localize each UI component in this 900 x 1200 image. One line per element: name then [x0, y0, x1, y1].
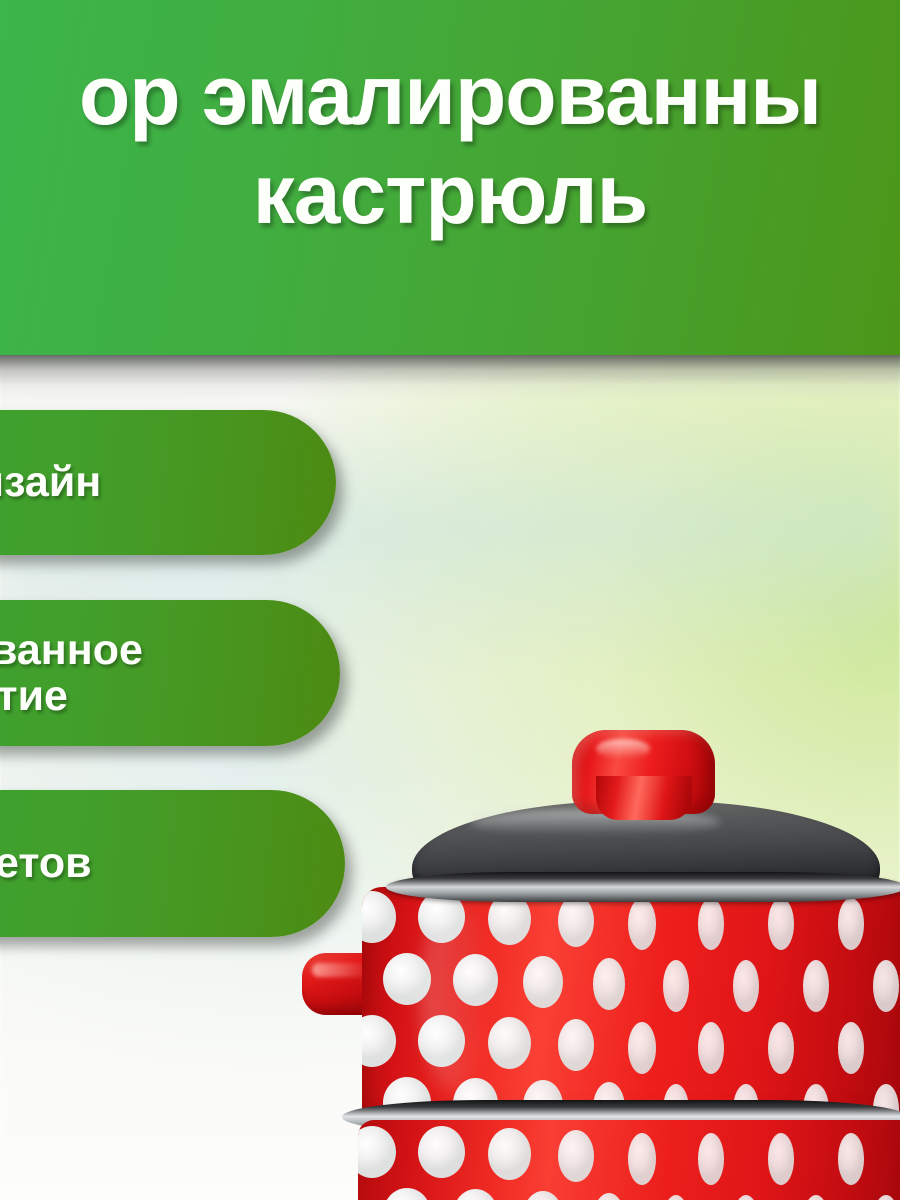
polka-dot [523, 1191, 563, 1200]
polka-dot [873, 1195, 899, 1200]
polka-dot [698, 1022, 724, 1074]
polka-dot [628, 898, 656, 950]
polka-dot [453, 1189, 498, 1200]
polka-dot [663, 960, 689, 1012]
polka-dot [558, 1130, 594, 1182]
polka-dot [698, 1133, 724, 1185]
pot-lid-knob-gloss [596, 739, 650, 759]
polka-dot [733, 1195, 759, 1200]
polka-dot [733, 960, 759, 1012]
polka-dot [803, 960, 829, 1012]
polka-dot [768, 1133, 794, 1185]
pot-lid-rim [386, 872, 900, 902]
polka-dot [768, 1022, 794, 1074]
polka-dot [523, 956, 563, 1008]
polka-dot [698, 898, 724, 950]
polka-dot [838, 898, 864, 950]
polka-dot [873, 960, 899, 1012]
polka-dot [628, 1022, 656, 1074]
pot-lower-body [358, 1120, 900, 1200]
polka-dot [558, 895, 594, 947]
pot-upper [300, 725, 900, 1115]
polka-dot [768, 898, 794, 950]
polka-dot [358, 1126, 396, 1178]
polka-dot [593, 1193, 625, 1200]
polka-dot [803, 1195, 829, 1200]
polka-dot [628, 1133, 656, 1185]
polka-dot [383, 1188, 431, 1200]
polka-dot [418, 1126, 465, 1178]
pot-lower [300, 1098, 900, 1200]
product-image-cookware [0, 0, 900, 1200]
polka-dot [838, 1022, 864, 1074]
pot-upper-highlight [420, 901, 490, 1091]
product-banner-card: ор эмалированны кастрюль й дизайн ирован… [0, 0, 900, 1200]
polka-dot [488, 1128, 531, 1180]
polka-dot [663, 1195, 689, 1200]
polka-dot [362, 1015, 396, 1067]
polka-dot [558, 1019, 594, 1071]
polka-dot [488, 1017, 531, 1069]
polka-dot [593, 958, 625, 1010]
polka-dot [838, 1133, 864, 1185]
polka-dot [362, 891, 396, 943]
